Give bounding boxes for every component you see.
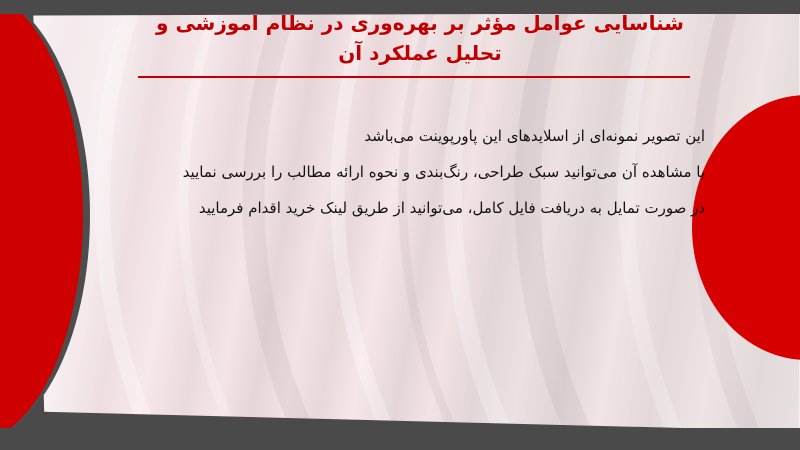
slide-body-text: این تصویر نمونه‌ای از اسلایدهای این پاور… <box>105 118 705 226</box>
slide-title: شناسایی عوامل مؤثر بر بهره‌وری در نظام آ… <box>140 8 700 68</box>
title-underline-rule <box>138 76 690 78</box>
body-line-3: در صورت تمایل به دریافت فایل کامل، می‌تو… <box>105 190 705 226</box>
presentation-slide: شناسایی عوامل مؤثر بر بهره‌وری در نظام آ… <box>0 0 800 450</box>
slide-title-line-2: تحلیل عملکرد آن <box>140 38 700 68</box>
dark-band-top <box>0 0 800 14</box>
dark-band-bottom <box>0 428 800 450</box>
body-line-2: با مشاهده آن می‌توانید سبک طراحی، رنگ‌بن… <box>105 154 705 190</box>
body-line-1: این تصویر نمونه‌ای از اسلایدهای این پاور… <box>105 118 705 154</box>
